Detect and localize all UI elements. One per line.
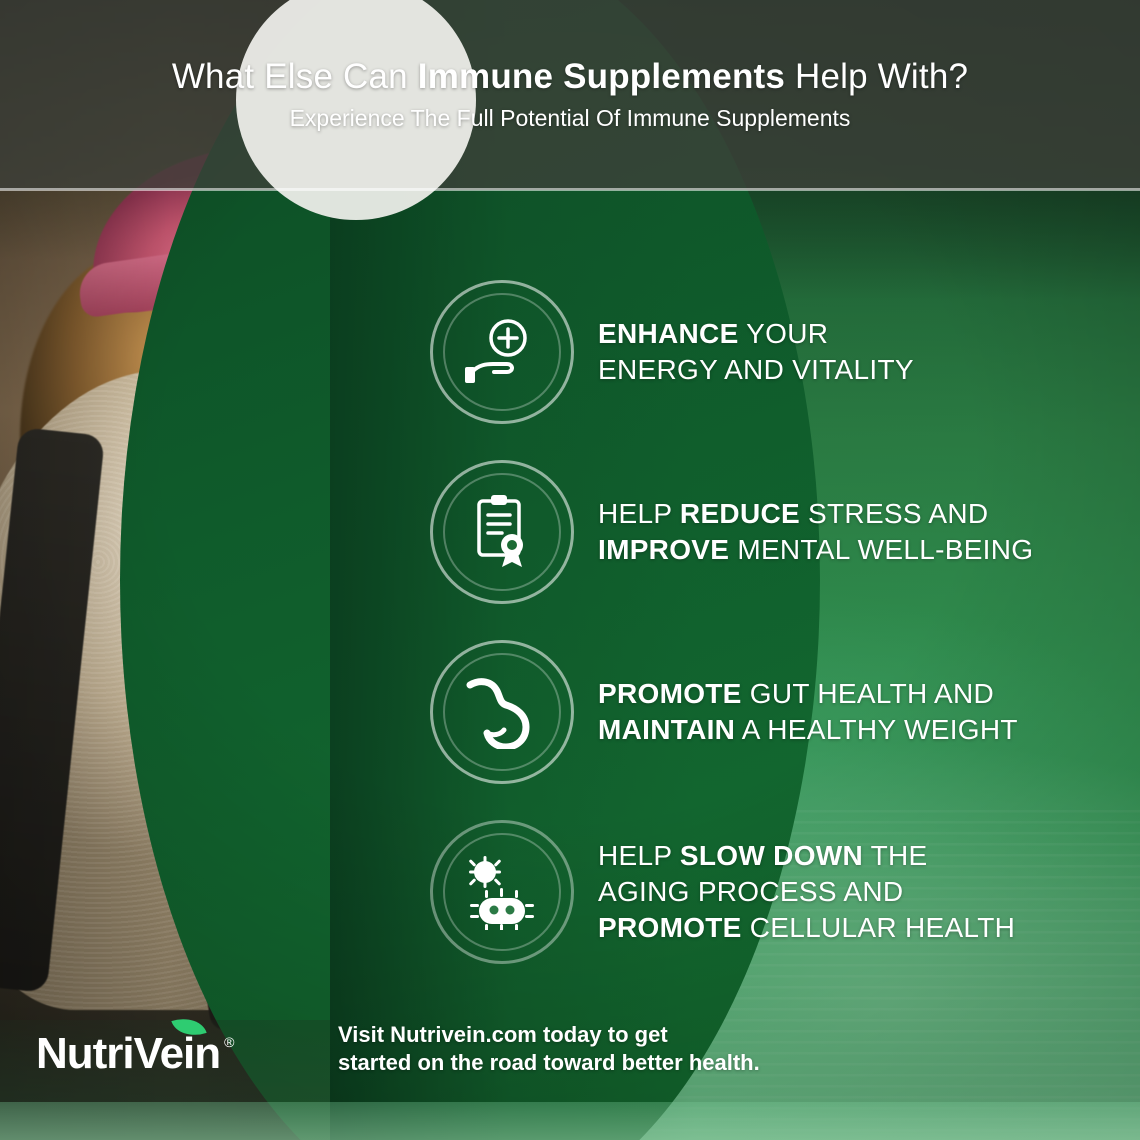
benefit-4-bold3: PROMOTE	[598, 912, 742, 943]
benefit-4-rest3: CELLULAR HEALTH	[742, 912, 1015, 943]
benefit-2-bold2: IMPROVE	[598, 534, 729, 565]
benefit-4-line2: AGING PROCESS AND	[598, 876, 903, 907]
benefit-2-rest2: MENTAL WELL-BEING	[729, 534, 1033, 565]
brand-logo-text: NutriVein	[36, 1032, 220, 1076]
benefit-item: HELP REDUCE STRESS AND IMPROVE MENTAL WE…	[430, 460, 1130, 604]
benefits-list: ENHANCE YOUR ENERGY AND VITALITY HELP RE…	[430, 280, 1130, 1000]
benefit-item: HELP SLOW DOWN THE AGING PROCESS AND PRO…	[430, 820, 1130, 964]
benefit-2-bold: REDUCE	[680, 498, 800, 529]
page-title-highlight: Immune Supplements	[418, 57, 785, 96]
page-title-pre: What Else Can	[172, 57, 418, 96]
brand-logo-nutri: Nutri	[36, 1029, 134, 1078]
header-divider	[0, 188, 1140, 191]
footer-cta-line1: Visit Nutrivein.com today to get	[338, 1021, 760, 1050]
benefit-3-bold: PROMOTE	[598, 678, 742, 709]
benefit-2-rest: STRESS AND	[800, 498, 988, 529]
benefit-text: PROMOTE GUT HEALTH AND MAINTAIN A HEALTH…	[598, 676, 1018, 748]
benefit-item: ENHANCE YOUR ENERGY AND VITALITY	[430, 280, 1130, 424]
benefit-1-rest: YOUR	[739, 318, 829, 349]
infographic-canvas: What Else Can Immune Supplements Help Wi…	[0, 0, 1140, 1140]
brand-logo[interactable]: NutriVein ®	[36, 1032, 234, 1076]
benefit-1-bold: ENHANCE	[598, 318, 739, 349]
benefit-3-bold2: MAINTAIN	[598, 714, 735, 745]
benefit-4-pre: HELP	[598, 840, 680, 871]
page-title-post: Help With?	[785, 57, 968, 96]
footer-cta-line2: started on the road toward better health…	[338, 1049, 760, 1078]
brand-logo-vein: Vein	[134, 1029, 221, 1078]
stomach-icon	[430, 640, 574, 784]
header-text-group: What Else Can Immune Supplements Help Wi…	[0, 0, 1140, 188]
brand-registered-mark: ®	[224, 1034, 234, 1050]
benefit-4-bold: SLOW DOWN	[680, 840, 863, 871]
benefit-text: ENHANCE YOUR ENERGY AND VITALITY	[598, 316, 914, 388]
benefit-text: HELP REDUCE STRESS AND IMPROVE MENTAL WE…	[598, 496, 1033, 568]
clipboard-award-icon	[430, 460, 574, 604]
page-title: What Else Can Immune Supplements Help Wi…	[172, 57, 968, 97]
footer-cta[interactable]: Visit Nutrivein.com today to get started…	[338, 1021, 760, 1078]
page-subtitle: Experience The Full Potential Of Immune …	[290, 105, 851, 132]
benefit-2-pre: HELP	[598, 498, 680, 529]
benefit-3-rest2: A HEALTHY WEIGHT	[735, 714, 1018, 745]
benefit-text: HELP SLOW DOWN THE AGING PROCESS AND PRO…	[598, 838, 1015, 945]
hand-holding-medical-cross-icon	[430, 280, 574, 424]
benefit-1-line2: ENERGY AND VITALITY	[598, 354, 914, 385]
benefit-item: PROMOTE GUT HEALTH AND MAINTAIN A HEALTH…	[430, 640, 1130, 784]
bacteria-cells-icon	[430, 820, 574, 964]
benefit-4-rest: THE	[863, 840, 927, 871]
benefit-3-rest: GUT HEALTH AND	[742, 678, 994, 709]
footer-bottom-strip	[0, 1102, 1140, 1140]
